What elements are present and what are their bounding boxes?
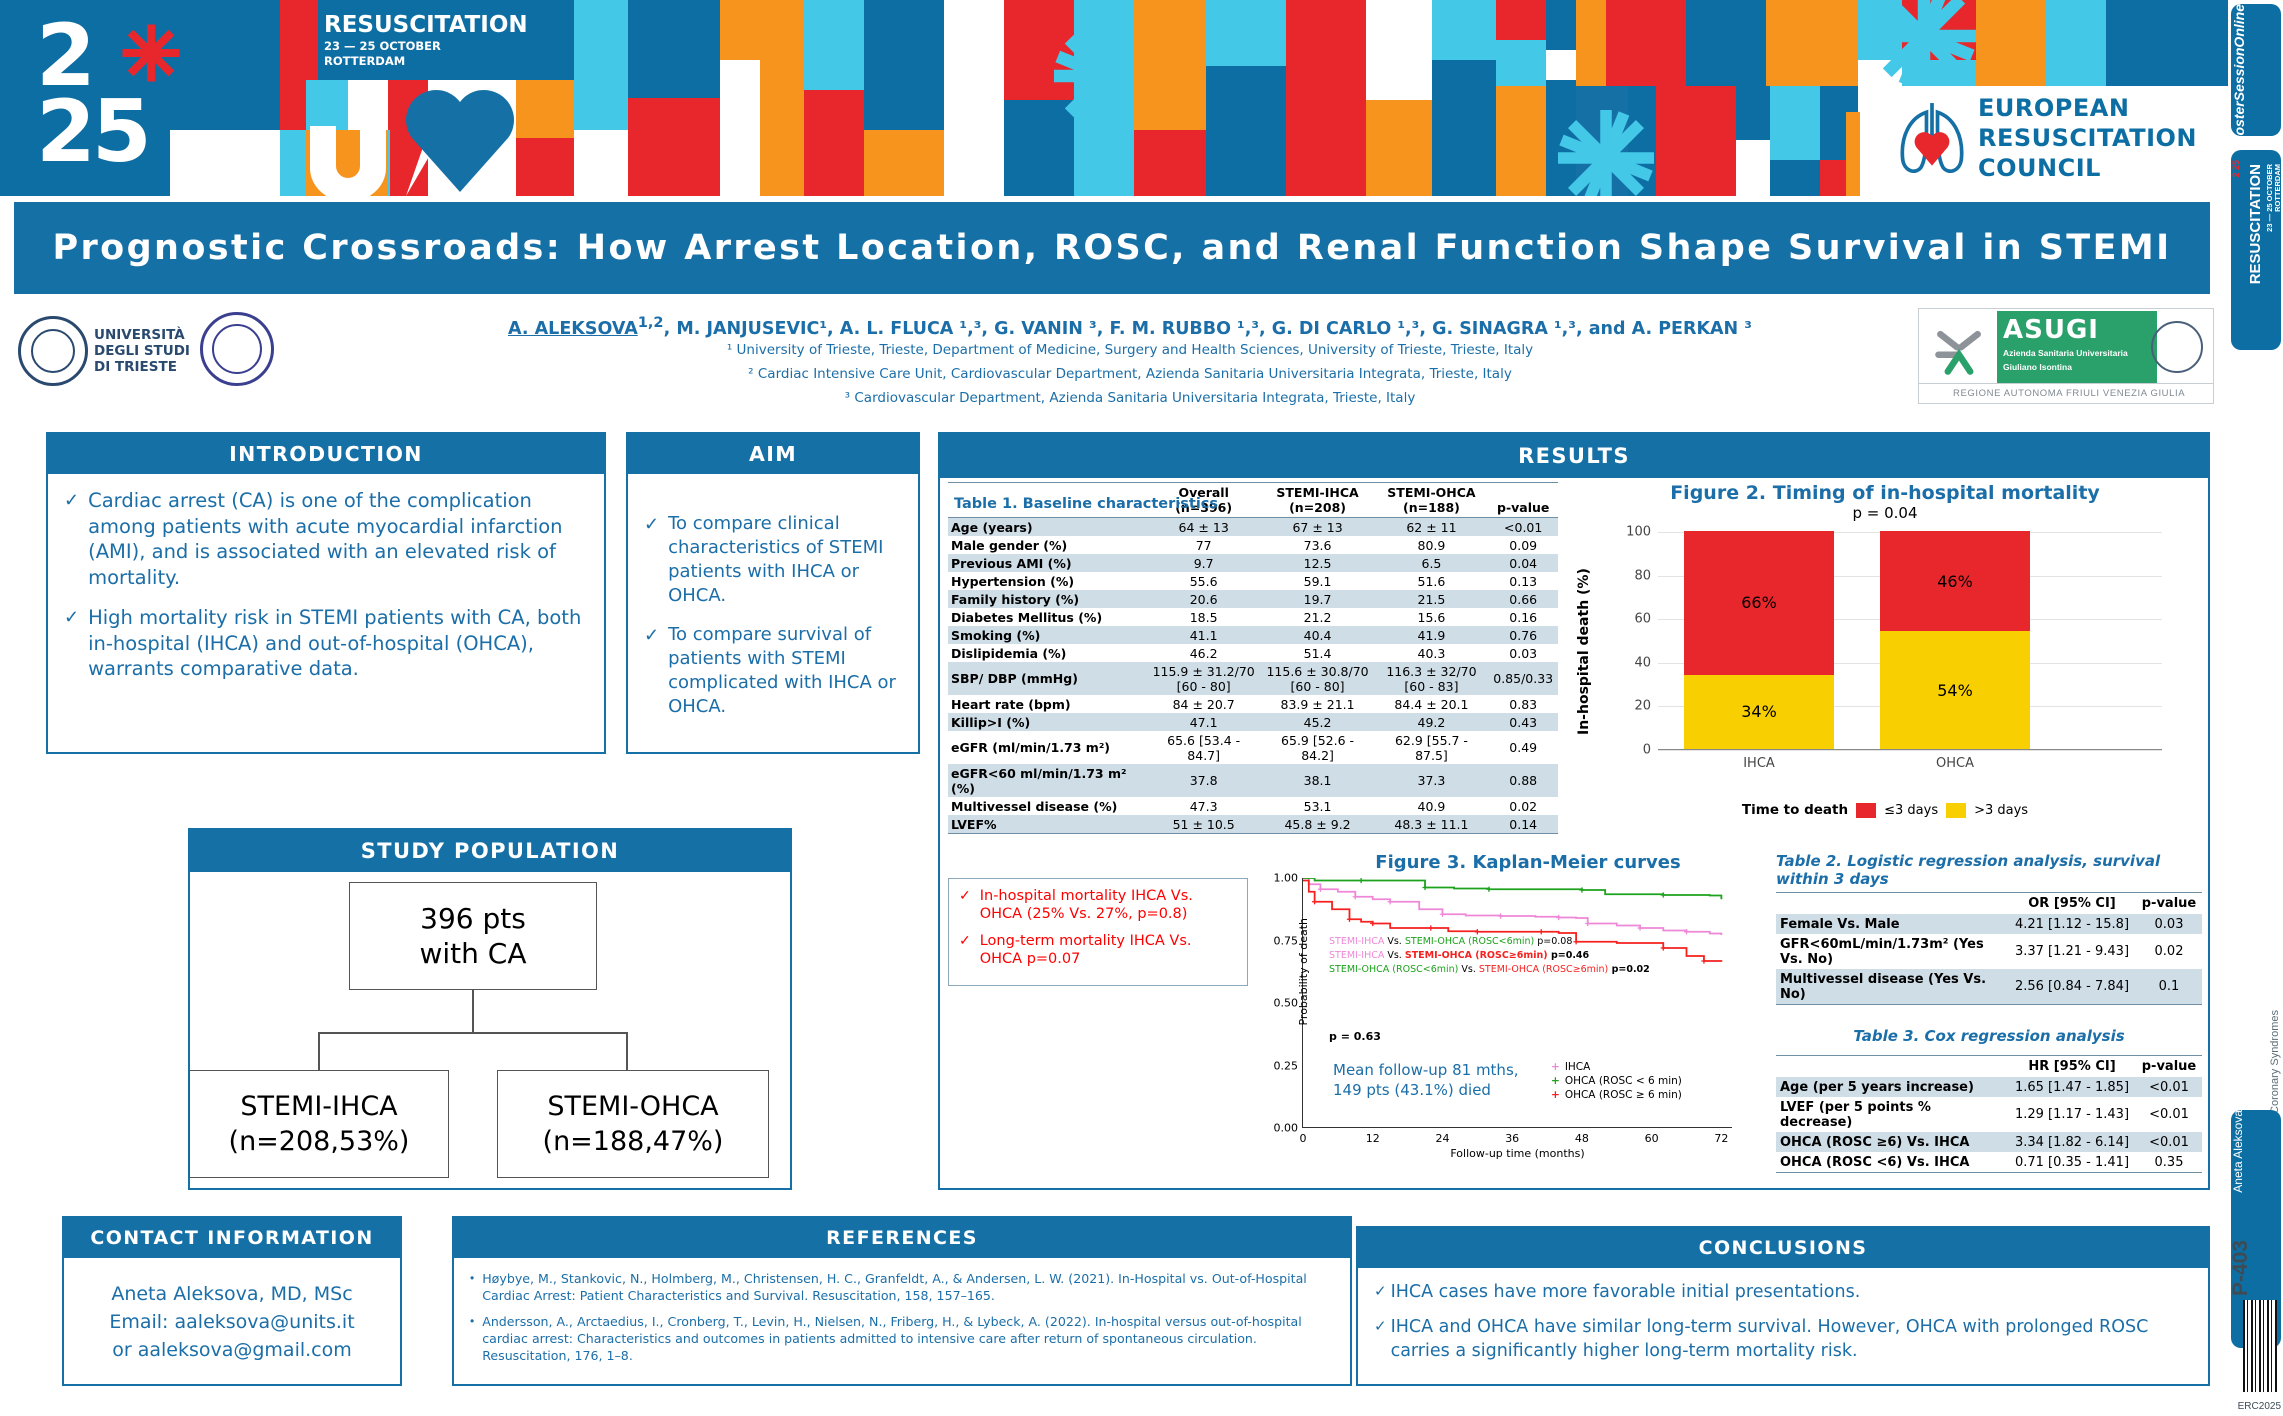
check-icon: ✓ [959,887,971,923]
figure3-xtick: 72 [1714,1127,1728,1145]
table3: HR [95% CI] p-value Age (per 5 years inc… [1776,1055,2202,1173]
figure2-ytick: 40 [1634,655,1658,670]
figure3-xtick: 36 [1505,1127,1519,1145]
flow-connector [626,1032,628,1070]
table1-header-ihca: STEMI-IHCA (n=208) [1261,483,1375,518]
table2-header-p: p-value [2136,893,2202,915]
table1-header-pvalue: p-value [1488,483,1558,518]
aim-bullet: ✓ To compare clinical characteristics of… [644,512,902,608]
banner-tile [1366,0,1432,100]
erc-line-2: RESUSCITATION [1978,123,2197,153]
table1-cell: Multivessel disease (%) [948,797,1147,815]
figure3-xtick: 24 [1435,1127,1449,1145]
reference-item: • Andersson, A., Arctaedius, I., Cronber… [470,1313,1334,1364]
banner-tile [944,0,1004,196]
table2-cell: GFR<60mL/min/1.73m² (Yes Vs. No) [1776,934,2008,969]
asugi-mark-icon [1931,323,1987,379]
table1-cell: 49.2 [1375,713,1489,731]
figure3-censor-mark [1661,945,1666,950]
postersession-label: PosterSessionOnline [2231,4,2261,155]
banner-tile [1736,86,1770,140]
sidebar-presenter: Aneta Aleksova [2231,1110,2261,1207]
table3-title: Table 3. Cox regression analysis [1776,1027,2202,1045]
banner-tile [348,80,388,130]
table2-header-blank [1776,893,2008,915]
medical-faculty-seal-icon [200,312,274,386]
introduction-panel: INTRODUCTION ✓ Cardiac arrest (CA) is on… [46,432,606,754]
aim-heading: AIM [628,434,918,474]
university-of-trieste-logo: UNIVERSITÀDEGLI STUDIDI TRIESTE [18,308,193,394]
check-icon: ✓ [1374,1315,1387,1363]
flow-connector [318,1032,628,1034]
results-panel: RESULTS Table 1. Baseline characteristic… [938,432,2210,1190]
figure2-ytick: 20 [1634,699,1658,714]
erc-line-3: COUNCIL [1978,153,2197,183]
flow-total-label: with CA [419,936,526,971]
banner-tile [2106,0,2228,86]
flow-total-count: 396 pts [420,901,526,936]
table1-cell: Age (years) [948,518,1147,537]
conclusion-bullet: ✓ IHCA and OHCA have similar long-term s… [1374,1315,2192,1363]
table1-cell: 37.8 [1147,764,1261,797]
asugi-sub-2: Giuliano Isontina [2003,362,2151,373]
study-population-heading: STUDY POPULATION [190,830,790,872]
table1-cell: Previous AMI (%) [948,554,1147,572]
conclusions-panel: CONCLUSIONS ✓ IHCA cases have more favor… [1356,1226,2210,1386]
table1-cell: 53.1 [1261,797,1375,815]
table1-title: Table 1. Baseline characteristics [954,496,1218,512]
table1-cell: 9.7 [1147,554,1261,572]
figure2-xtick: OHCA [1880,756,2030,771]
table1-cell: 51.6 [1375,572,1489,590]
figure3-curves [1303,878,1733,1128]
table2-cell: 0.02 [2136,934,2202,969]
table-row: Dislipidemia (%)46.251.440.30.03 [948,644,1558,662]
check-icon: ✓ [644,623,659,719]
table1-cell: 0.03 [1488,644,1558,662]
asugi-university-seal-icon [2151,321,2203,373]
erc-logo-text: EUROPEAN RESUSCITATION COUNCIL [1978,93,2197,183]
flow-box-ihca: STEMI-IHCA (n=208,53%) [189,1070,449,1178]
table1-cell: 55.6 [1147,572,1261,590]
erc-logo: EUROPEAN RESUSCITATION COUNCIL [1878,86,2218,190]
table2-cell: 4.21 [1.12 - 15.8] [2008,914,2136,934]
table2-title: Table 2. Logistic regression analysis, s… [1776,852,2202,888]
banner-tile [804,0,864,90]
table1-cell: Male gender (%) [948,536,1147,554]
banner-tile [1976,0,2046,86]
affiliation-2: ² Cardiac Intensive Care Unit, Cardiovas… [400,366,1860,382]
table-row: Diabetes Mellitus (%)18.521.215.60.16 [948,608,1558,626]
table1-cell: 40.9 [1375,797,1489,815]
introduction-bullet: ✓ Cardiac arrest (CA) is one of the comp… [64,488,588,590]
callout-text-longterm: Long-term mortality IHCA Vs. OHCA p=0.07 [980,932,1237,968]
event-name: RESUSCITATION [324,12,546,38]
table-row: GFR<60mL/min/1.73m² (Yes Vs. No)3.37 [1.… [1776,934,2202,969]
table1-header-ihca-l2: (n=208) [1263,500,1373,515]
table1-cell: 0.02 [1488,797,1558,815]
table1-cell: 40.4 [1261,626,1375,644]
figure2-ylabel: In-hospital death (%) [1576,562,1592,742]
table3-title-a: Table 3. [1853,1027,1919,1045]
introduction-bullet-text: High mortality risk in STEMI patients wi… [88,605,588,682]
references-body: • Høybye, M., Stankovic, N., Holmberg, M… [454,1258,1350,1364]
study-population-panel: STUDY POPULATION 396 pts with CA STEMI-I… [188,828,792,1190]
flow-ohca-count: (n=188,47%) [543,1124,724,1159]
table1-cell: 84.4 ± 20.1 [1375,695,1489,713]
bullet-dot-icon: • [470,1313,474,1364]
table1-cell: 84 ± 20.7 [1147,695,1261,713]
figure3-censor-mark [1579,887,1584,892]
table1-body: Age (years)64 ± 1367 ± 1362 ± 11<0.01Mal… [948,518,1558,834]
banner-tile [804,90,864,196]
table1-cell: 48.3 ± 11.1 [1375,815,1489,834]
table3-header-hr: HR [95% CI] [2008,1056,2136,1078]
contact-email-1[interactable]: Email: aaleksova@units.it [80,1308,384,1336]
banner-tile [1496,0,1546,40]
table-row: Multivessel disease (%)47.353.140.90.02 [948,797,1558,815]
references-panel: REFERENCES • Høybye, M., Stankovic, N., … [452,1216,1352,1386]
flow-connector [472,990,474,1034]
table1-cell: 20.6 [1147,590,1261,608]
table3-cell: 0.71 [0.35 - 1.41] [2008,1152,2136,1173]
figure2-bar-ihca: 34%66% [1684,531,1834,749]
figure3-censor-mark [1661,892,1666,897]
tables-2-3: Table 2. Logistic regression analysis, s… [1776,852,2202,1173]
table1-cell: 0.14 [1488,815,1558,834]
banner-tile [720,60,760,196]
contact-name: Aneta Aleksova, MD, MSc [80,1280,384,1308]
table1-cell: 62 ± 11 [1375,518,1489,537]
banner-tile [1206,66,1286,196]
starburst-icon [1556,110,1656,196]
figure3-censor-mark [1486,887,1491,892]
table2: OR [95% CI] p-value Female Vs. Male4.21 … [1776,892,2202,1005]
table-row: OHCA (ROSC ≥6) Vs. IHCA3.34 [1.82 - 6.14… [1776,1132,2202,1152]
table-row: Female Vs. Male4.21 [1.12 - 15.8]0.03 [1776,914,2202,934]
banner-tile [760,0,804,196]
table2-cell: Female Vs. Male [1776,914,2008,934]
event-dates: 23 — 25 OCTOBER [324,40,546,53]
table1-cell: 47.3 [1147,797,1261,815]
table1-cell: 83.9 ± 21.1 [1261,695,1375,713]
table1-header-ohca-l1: STEMI-OHCA [1377,485,1487,500]
banner-tile [628,0,720,98]
figure3-censor-mark [1428,925,1433,930]
table1-cell: 47.1 [1147,713,1261,731]
table3-header-row: HR [95% CI] p-value [1776,1056,2202,1078]
introduction-heading: INTRODUCTION [48,434,604,474]
table1-cell: 0.13 [1488,572,1558,590]
contact-heading: CONTACT INFORMATION [64,1218,400,1258]
table-row: Killip>I (%)47.145.249.20.43 [948,713,1558,731]
figure2-segment-le3days: 66% [1684,531,1834,675]
figure3-censor-mark [1347,917,1352,922]
flow-ihca-count: (n=208,53%) [229,1124,410,1159]
poster-title-bar: Prognostic Crossroads: How Arrest Locati… [14,202,2210,294]
figure2-legend-title: Time to death [1742,802,1848,818]
author-list: A. ALEKSOVA1,2, M. JANJUSEVIC¹, A. L. FL… [400,314,1860,339]
figure3-xlabel: Follow-up time (months) [1303,1147,1732,1160]
figure3-censor-mark [1440,912,1445,917]
table1-cell: 15.6 [1375,608,1489,626]
callout-bullet: ✓ In-hospital mortality IHCA Vs. OHCA (2… [959,887,1237,923]
table1-cell: 62.9 [55.7 - 87.5] [1375,731,1489,764]
table1-cell: 115.6 ± 30.8/70 [60 - 80] [1261,662,1375,695]
table2-cell: 3.37 [1.21 - 9.43] [2008,934,2136,969]
figure2-bars: 02040608010034%66%IHCA54%46%OHCA [1658,532,2162,750]
figure2-plot-area: In-hospital death (%) 02040608010034%66%… [1580,526,2190,784]
flow-box-total: 396 pts with CA [349,882,597,990]
reference-text: Andersson, A., Arctaedius, I., Cronberg,… [482,1313,1334,1364]
table1-cell: 12.5 [1261,554,1375,572]
table-row: Hypertension (%)55.659.151.60.13 [948,572,1558,590]
poster-code: P-403 [2229,1240,2253,1296]
table1-cell: Diabetes Mellitus (%) [948,608,1147,626]
table1-cell: 21.5 [1375,590,1489,608]
table2-cell: Multivessel disease (Yes Vs. No) [1776,969,2008,1005]
table-row: Smoking (%)41.140.441.90.76 [948,626,1558,644]
table1-cell: Heart rate (bpm) [948,695,1147,713]
table1-cell: 45.8 ± 9.2 [1261,815,1375,834]
figure3-censor-mark [1312,899,1317,904]
table2-body: Female Vs. Male4.21 [1.12 - 15.8]0.03GFR… [1776,914,2202,1005]
table-row: eGFR (ml/min/1.73 m²)65.6 [53.4 - 84.7]6… [948,731,1558,764]
conclusions-heading: CONCLUSIONS [1358,1228,2208,1268]
table2-header-or: OR [95% CI] [2008,893,2136,915]
table3-title-b: Cox regression analysis [1919,1027,2124,1045]
flow-ohca-label: STEMI-OHCA [547,1089,718,1124]
table1-cell: Hypertension (%) [948,572,1147,590]
figure3-curve-0 [1303,878,1721,935]
authors-section: UNIVERSITÀDEGLI STUDIDI TRIESTE A. ALEKS… [0,300,2228,410]
table3-cell: <0.01 [2136,1077,2202,1097]
banner-tile [864,130,944,196]
barcode-label: ERC2025 [2238,1401,2281,1412]
table1-cell: eGFR<60 ml/min/1.73 m² (%) [948,764,1147,797]
sidebar-brand-name: RESUSCITATION [2247,164,2264,284]
figure3-censor-mark [1475,929,1480,934]
table1-cell: 0.66 [1488,590,1558,608]
table1-cell: 0.83 [1488,695,1558,713]
table1-cell: 38.1 [1261,764,1375,797]
reference-item: • Høybye, M., Stankovic, N., Holmberg, M… [470,1270,1334,1304]
banner-tile [516,80,574,138]
table1-cell: 116.3 ± 32/70 [60 - 83] [1375,662,1489,695]
study-flowchart: 396 pts with CA STEMI-IHCA (n=208,53%) S… [190,872,790,1184]
table1-cell: 64 ± 13 [1147,518,1261,537]
table1-cell: Family history (%) [948,590,1147,608]
figure2-ytick: 100 [1626,525,1658,540]
barcode-icon [2243,1300,2277,1392]
heart-icon [400,76,520,196]
table2-header-row: OR [95% CI] p-value [1776,893,2202,915]
table1-cell: 115.9 ± 31.2/70 [60 - 80] [1147,662,1261,695]
figure3-plot-area: Probability of death Follow-up time (mon… [1302,878,1732,1128]
figure3: Figure 3. Kaplan-Meier curves Probabilit… [1258,852,1758,1182]
figure3-xtick: 0 [1300,1127,1307,1145]
table-row: Multivessel disease (Yes Vs. No)2.56 [0.… [1776,969,2202,1005]
table1-cell: 46.2 [1147,644,1261,662]
introduction-body: ✓ Cardiac arrest (CA) is one of the comp… [48,474,604,711]
banner-tile [1736,140,1770,196]
table1-cell: 0.49 [1488,731,1558,764]
table3-cell: <0.01 [2136,1132,2202,1152]
aim-bullet-text: To compare clinical characteristics of S… [668,512,902,608]
event-name-block: RESUSCITATION 23 — 25 OCTOBER ROTTERDAM [318,0,546,80]
sidebar-brand-city: ROTTERDAM [2273,164,2282,212]
table-row: Family history (%)20.619.721.50.66 [948,590,1558,608]
banner-tile [306,80,348,130]
figure3-censor-mark [1701,958,1706,963]
table1-cell: Killip>I (%) [948,713,1147,731]
introduction-bullet-text: Cardiac arrest (CA) is one of the compli… [88,488,588,590]
table3-cell: Age (per 5 years increase) [1776,1077,2008,1097]
table1-cell: <0.01 [1488,518,1558,537]
conclusions-body: ✓ IHCA cases have more favorable initial… [1358,1268,2208,1386]
asugi-logo: ASUGI Azienda Sanitaria Universitaria Gi… [1918,308,2214,404]
table3-cell: OHCA (ROSC <6) Vs. IHCA [1776,1152,2008,1173]
banner-tile [1432,60,1496,196]
contact-panel: CONTACT INFORMATION Aneta Aleksova, MD, … [62,1216,402,1386]
results-heading: RESULTS [940,434,2208,478]
figure2-ytick: 80 [1634,568,1658,583]
table1-cell: LVEF% [948,815,1147,834]
figure3-censor-mark [1353,894,1358,899]
asugi-name: ASUGI [2003,315,2151,345]
table1-header-ohca: STEMI-OHCA (n=188) [1375,483,1489,518]
table1-cell: 59.1 [1261,572,1375,590]
figure3-xtick: 60 [1645,1127,1659,1145]
table-row: LVEF (per 5 points % decrease)1.29 [1.17… [1776,1097,2202,1132]
legend-swatch-le3days [1856,803,1876,818]
aim-bullet-text: To compare survival of patients with STE… [668,623,902,719]
table1-cell: Smoking (%) [948,626,1147,644]
callout-bullet: ✓ Long-term mortality IHCA Vs. OHCA p=0.… [959,932,1237,968]
table1-cell: 65.6 [53.4 - 84.7] [1147,731,1261,764]
legend-label-le3days: ≤3 days [1884,803,1938,818]
presenting-author: A. ALEKSOVA [508,319,638,339]
legend-label-gt3days: >3 days [1974,803,2028,818]
banner-tile [1206,0,1286,66]
aim-body: ✓ To compare clinical characteristics of… [628,474,918,748]
figure3-ytick: 1.00 [1274,872,1304,885]
banner-tile [1496,86,1546,196]
table-row: Age (per 5 years increase)1.65 [1.47 - 1… [1776,1077,2202,1097]
banner-tile [574,0,628,130]
conclusion-text: IHCA and OHCA have similar long-term sur… [1391,1315,2192,1363]
table1-cell: 51.4 [1261,644,1375,662]
bullet-dot-icon: • [470,1270,474,1304]
table1-cell: 19.7 [1261,590,1375,608]
table-row: Heart rate (bpm)84 ± 20.783.9 ± 21.184.4… [948,695,1558,713]
event-year-bottom: 25 [36,94,166,170]
flow-ihca-label: STEMI-IHCA [240,1089,397,1124]
table-row: Male gender (%)7773.680.90.09 [948,536,1558,554]
check-icon: ✓ [1374,1280,1387,1304]
table-row: OHCA (ROSC <6) Vs. IHCA0.71 [0.35 - 1.41… [1776,1152,2202,1173]
figure3-xtick: 48 [1575,1127,1589,1145]
table1-cell: 0.43 [1488,713,1558,731]
red-asterisk-icon [120,22,182,84]
university-name: UNIVERSITÀDEGLI STUDIDI TRIESTE [94,327,190,375]
asugi-region: REGIONE AUTONOMA FRIULI VENEZIA GIULIA [1919,383,2213,403]
contact-email-2[interactable]: or aaleksova@gmail.com [80,1336,384,1364]
table3-header-p: p-value [2136,1056,2202,1078]
aim-panel: AIM ✓ To compare clinical characteristic… [626,432,920,754]
table1-cell: 80.9 [1375,536,1489,554]
table1-cell: 51 ± 10.5 [1147,815,1261,834]
table1-cell: 0.76 [1488,626,1558,644]
right-sidebar: PosterSessionOnline 2 25 RESUSCITATION 2… [2228,0,2283,1416]
affiliation-3: ³ Cardiovascular Department, Azienda San… [400,390,1860,406]
table3-cell: 1.29 [1.17 - 1.43] [2008,1097,2136,1132]
figure3-title: Figure 3. Kaplan-Meier curves [1298,852,1758,873]
figure2: Figure 2. Timing of in-hospital mortalit… [1580,482,2190,842]
event-banner: RESUSCITATION 23 — 25 OCTOBER ROTTERDAM [0,0,2228,196]
banner-tile [864,0,944,130]
banner-tile [170,130,280,196]
figure3-censor-mark [1585,921,1590,926]
banner-tile [1656,86,1736,196]
table1-cell: 37.3 [1375,764,1489,797]
asugi-sub-1: Azienda Sanitaria Universitaria [2003,348,2151,359]
figure2-title: Figure 2. Timing of in-hospital mortalit… [1580,482,2190,504]
banner-tile [1366,100,1432,196]
table1-cell: 67 ± 13 [1261,518,1375,537]
introduction-bullet: ✓ High mortality risk in STEMI patients … [64,605,588,682]
figure3-curve-2 [1303,881,1721,962]
conclusion-text: IHCA cases have more favorable initial p… [1391,1280,1861,1304]
flow-box-ohca: STEMI-OHCA (n=188,47%) [497,1070,769,1178]
table2-cell: 0.03 [2136,914,2202,934]
university-seal-icon [18,316,88,386]
table1-cell: 41.1 [1147,626,1261,644]
u-shape-icon [300,126,396,196]
figure3-ytick: 0.50 [1274,997,1304,1010]
postersession-chip[interactable]: PosterSessionOnline [2231,4,2281,136]
flow-connector [318,1032,320,1070]
starburst-icon [1872,0,1976,88]
table1-cell: SBP/ DBP (mmHg) [948,662,1147,695]
figure2-segment-gt3days: 34% [1684,675,1834,749]
check-icon: ✓ [64,605,79,682]
table-row: SBP/ DBP (mmHg)115.9 ± 31.2/70 [60 - 80]… [948,662,1558,695]
table1-cell: 45.2 [1261,713,1375,731]
table1-cell: 0.16 [1488,608,1558,626]
table1-cell: 77 [1147,536,1261,554]
aim-bullet: ✓ To compare survival of patients with S… [644,623,902,719]
figure2-segment-le3days: 46% [1880,531,2030,631]
table1-wrap: Table 1. Baseline characteristics Overal… [948,482,1558,834]
table1-cell: 65.9 [52.6 - 84.2] [1261,731,1375,764]
banner-tile [1134,0,1206,130]
figure2-xtick: IHCA [1684,756,1834,771]
figure2-ytick: 0 [1643,743,1658,758]
figure2-segment-gt3days: 54% [1880,631,2030,749]
figure3-censor-mark [1556,915,1561,920]
check-icon: ✓ [64,488,79,590]
banner-tile [1432,0,1496,60]
figure3-censor-mark [1359,878,1364,883]
banner-tile [1134,130,1206,196]
banner-tile [516,138,574,196]
table3-cell: 3.34 [1.82 - 6.14] [2008,1132,2136,1152]
banner-tile [1766,0,1858,86]
asugi-name-block: ASUGI Azienda Sanitaria Universitaria Gi… [1997,311,2157,383]
references-heading: REFERENCES [454,1218,1350,1258]
banner-tile [1546,0,1576,50]
